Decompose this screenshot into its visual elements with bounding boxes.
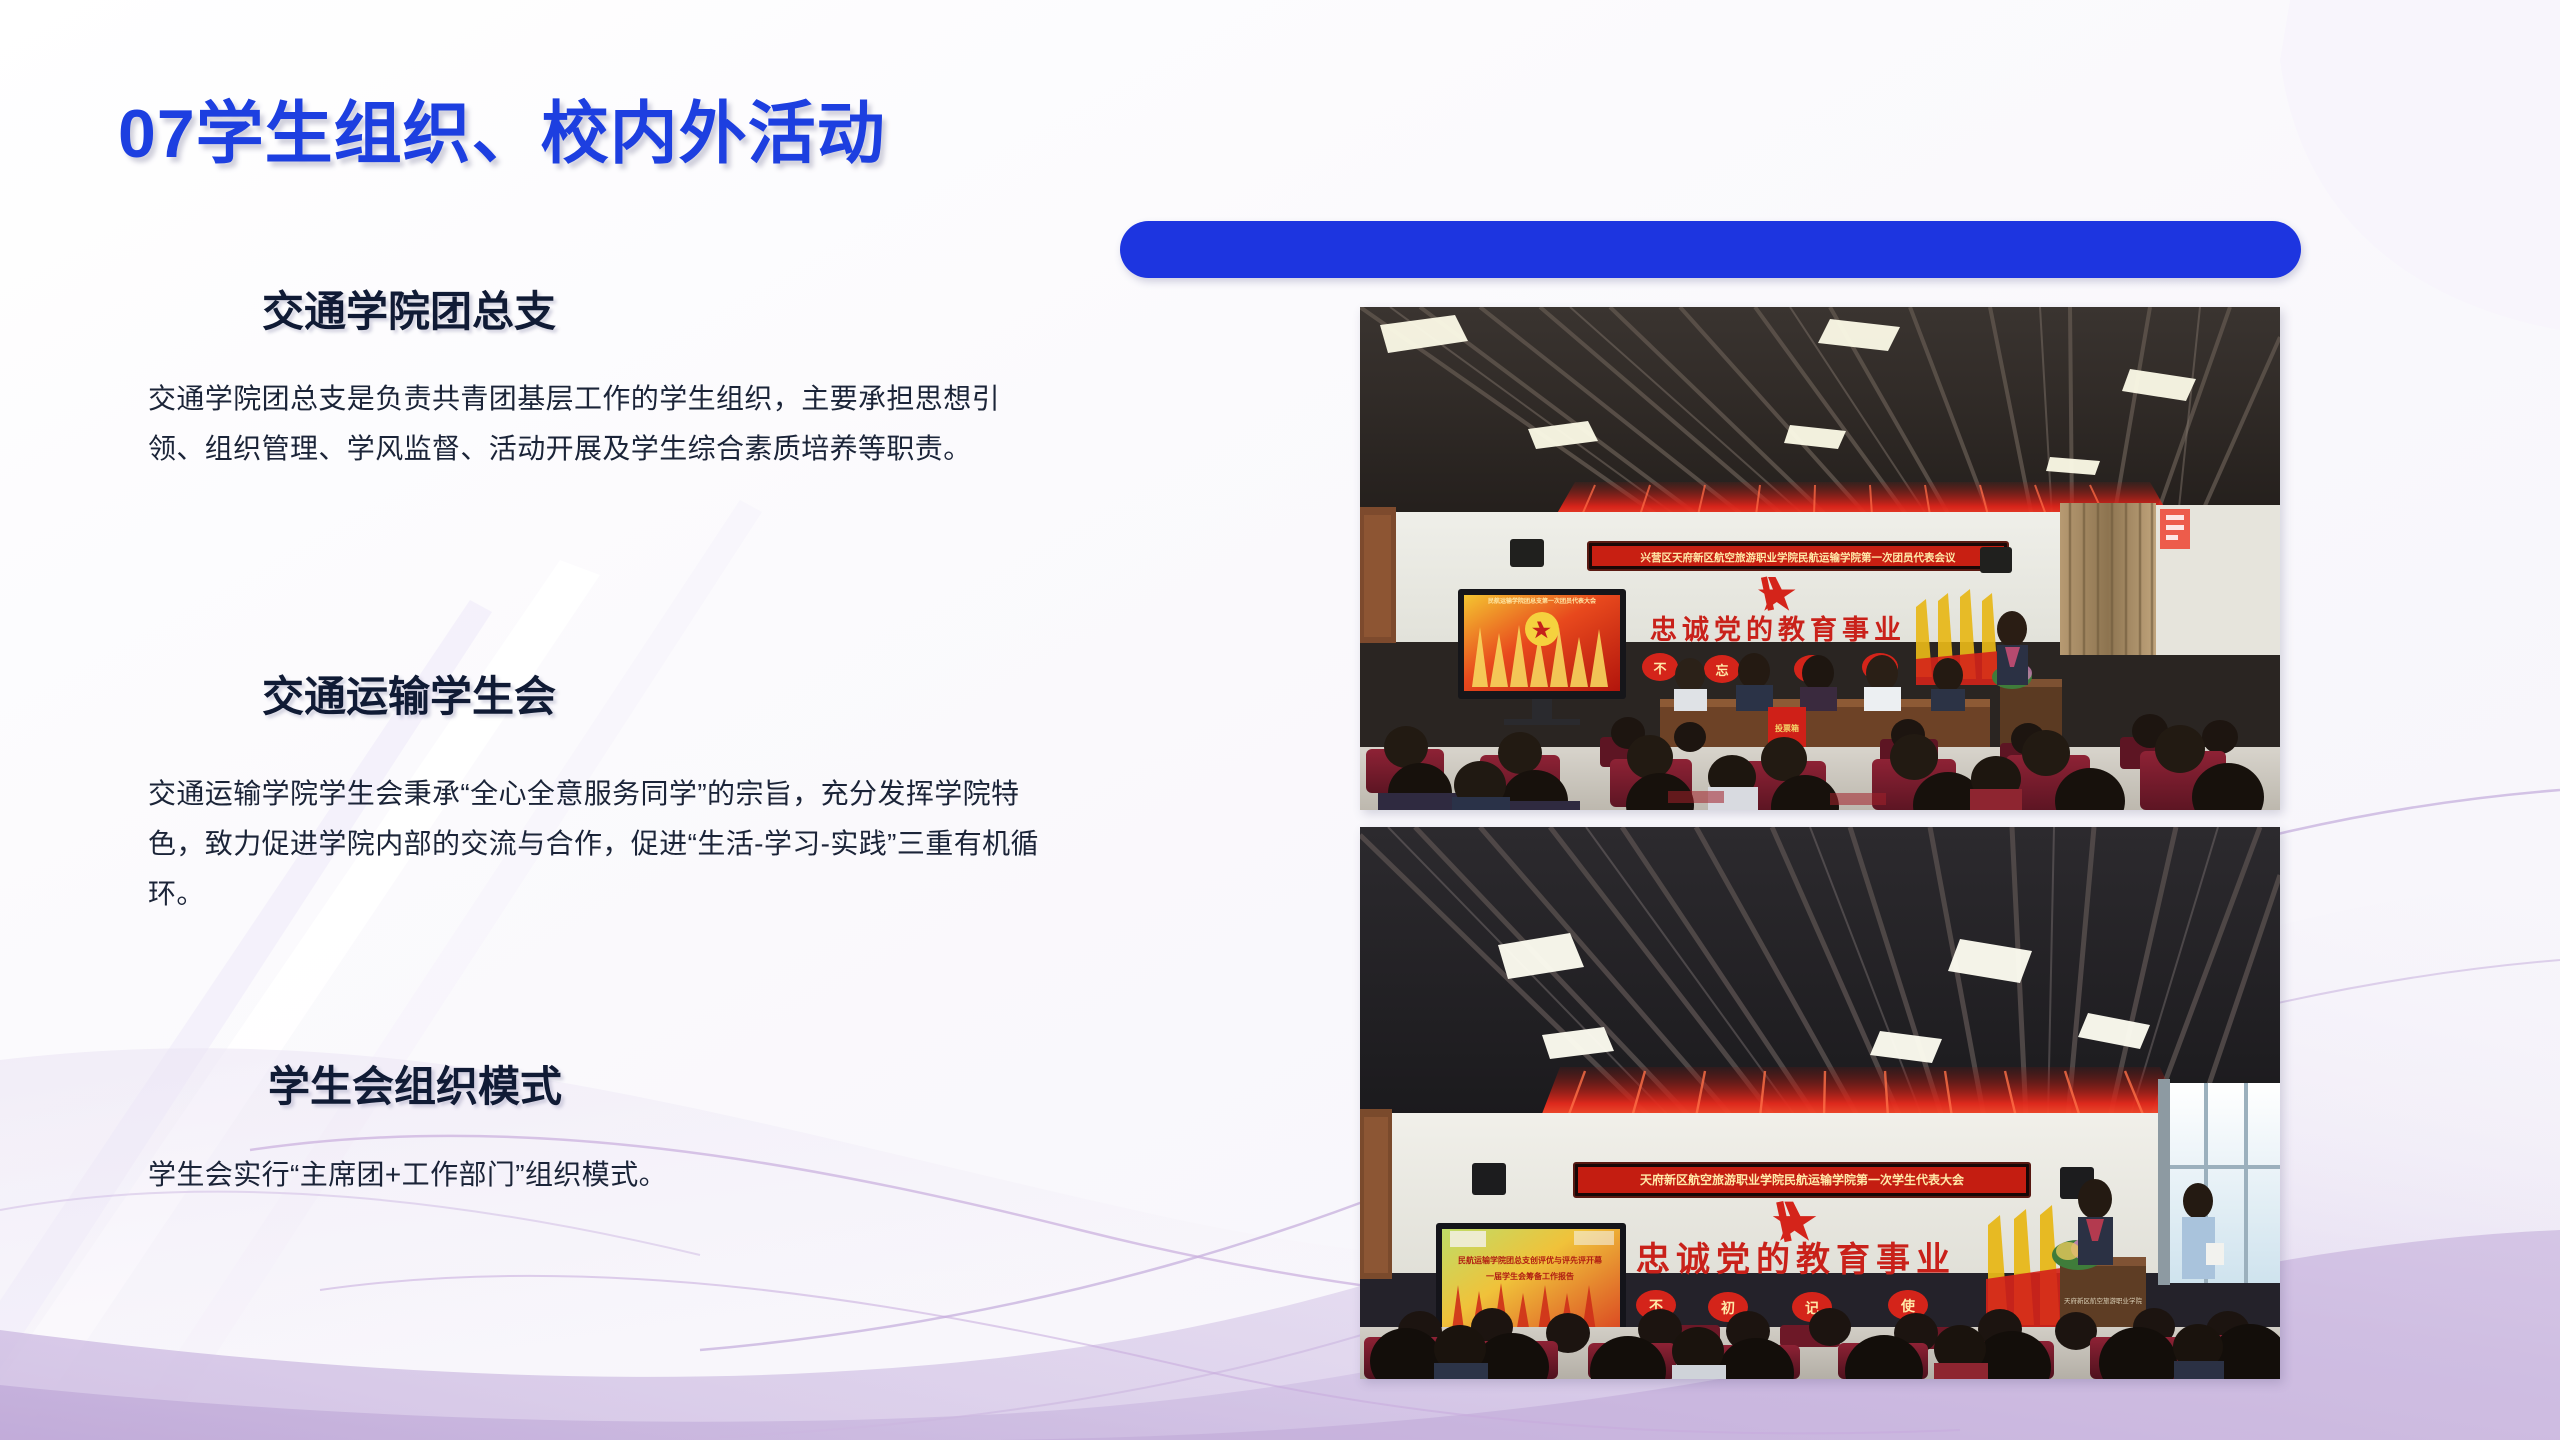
section-body-student-union: 交通运输学院学生会秉承“全心全意服务同学”的宗旨，充分发挥学院特色，致力促进学院… (148, 769, 1053, 918)
svg-text:民航运输学院团总支第一次团员代表大会: 民航运输学院团总支第一次团员代表大会 (1488, 597, 1597, 605)
svg-text:初: 初 (1721, 1300, 1735, 1316)
svg-text:兴营区天府新区航空旅游职业学院民航运输学院第一次团员代表会议: 兴营区天府新区航空旅游职业学院民航运输学院第一次团员代表会议 (1641, 551, 1956, 564)
svg-text:使: 使 (1900, 1298, 1916, 1314)
svg-text:忠诚党的教育事业: 忠诚党的教育事业 (1650, 614, 1906, 645)
svg-text:天府新区航空旅游职业学院民航运输学院第一次学生代表大会: 天府新区航空旅游职业学院民航运输学院第一次学生代表大会 (1640, 1172, 1965, 1187)
text-column: 交通学院团总支 交通学院团总支是负责共青团基层工作的学生组织，主要承担思想引领、… (0, 0, 1110, 1440)
svg-text:投票箱: 投票箱 (1775, 723, 1799, 733)
section-heading-organization-model: 学生会组织模式 (268, 1053, 562, 1114)
svg-text:民航运输学院团总支创评优与评先评开幕: 民航运输学院团总支创评优与评先评开幕 (1458, 1255, 1603, 1265)
svg-text:忠诚党的教育事业: 忠诚党的教育事业 (1636, 1241, 1956, 1279)
photo-student-congress-meeting: 天府新区航空旅游职业学院民航运输学院第一次学生代表大会 忠诚党的教育事业 不 初… (1360, 827, 2280, 1379)
svg-text:天府新区航空旅游职业学院: 天府新区航空旅游职业学院 (2064, 1296, 2143, 1305)
section-body-organization-model: 学生会实行“主席团+工作部门”组织模式。 (148, 1150, 1048, 1200)
section-heading-student-union: 交通运输学生会 (262, 663, 556, 724)
svg-text:忘: 忘 (1715, 663, 1728, 678)
blue-pill-banner (1120, 221, 2301, 278)
svg-text:不: 不 (1653, 661, 1666, 676)
section-body-youth-league: 交通学院团总支是负责共青团基层工作的学生组织，主要承担思想引领、组织管理、学风监… (148, 374, 1048, 474)
photo-party-congress-meeting: 兴营区天府新区航空旅游职业学院民航运输学院第一次团员代表会议 忠诚党的教育事业 … (1360, 307, 2280, 810)
svg-text:一届学生会筹备工作报告: 一届学生会筹备工作报告 (1486, 1271, 1574, 1281)
section-heading-youth-league: 交通学院团总支 (262, 278, 556, 339)
